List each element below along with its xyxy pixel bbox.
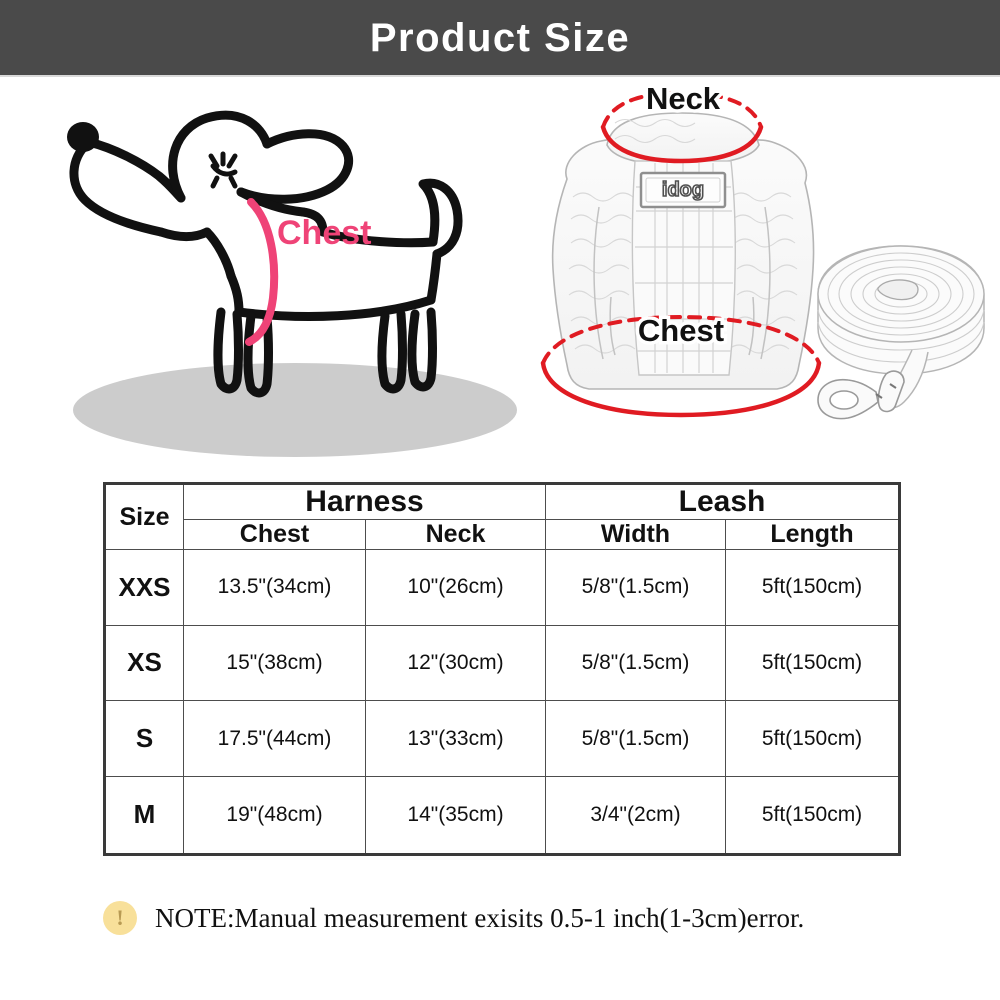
leash-coil — [818, 246, 984, 374]
cell-length: 5ft(150cm) — [726, 625, 900, 701]
header-length: Length — [726, 520, 900, 550]
table-row: XXS 13.5"(34cm) 10"(26cm) 5/8"(1.5cm) 5f… — [105, 550, 900, 626]
page-title: Product Size — [370, 18, 630, 58]
dog-chest-label: Chest — [277, 214, 371, 252]
cell-neck: 12"(30cm) — [366, 625, 546, 701]
cell-length: 5ft(150cm) — [726, 776, 900, 854]
cell-neck: 14"(35cm) — [366, 776, 546, 854]
leash-illustration — [800, 232, 995, 437]
dog-illustration: Chest — [55, 92, 535, 462]
exclamation-glyph: ! — [116, 907, 123, 929]
cell-size: S — [105, 701, 184, 777]
header-group-harness: Harness — [184, 484, 546, 520]
cell-neck: 13"(33cm) — [366, 701, 546, 777]
harness-neck-label: Neck — [646, 87, 721, 116]
header-group-leash: Leash — [546, 484, 900, 520]
harness-svg: idog Neck Chest — [515, 87, 845, 437]
cell-neck: 10"(26cm) — [366, 550, 546, 626]
leash-snap-hook — [818, 371, 904, 418]
table-row: XS 15"(38cm) 12"(30cm) 5/8"(1.5cm) 5ft(1… — [105, 625, 900, 701]
header-width: Width — [546, 520, 726, 550]
header-size: Size — [105, 484, 184, 550]
cell-length: 5ft(150cm) — [726, 550, 900, 626]
leash-svg — [800, 232, 995, 437]
cell-size: XS — [105, 625, 184, 701]
size-table: Size Harness Leash Chest Neck Width Leng… — [103, 482, 901, 856]
dog-nose — [67, 122, 99, 152]
note-row: ! NOTE:Manual measurement exisits 0.5-1 … — [103, 888, 923, 948]
brand-label-text: idog — [662, 179, 704, 201]
header-bar: Product Size — [0, 0, 1000, 75]
cell-size: M — [105, 776, 184, 854]
table-row: M 19"(48cm) 14"(35cm) 3/4"(2cm) 5ft(150c… — [105, 776, 900, 854]
dog-shadow — [73, 363, 517, 457]
cell-width: 5/8"(1.5cm) — [546, 550, 726, 626]
cell-chest: 13.5"(34cm) — [184, 550, 366, 626]
illustration-area: Chest — [0, 77, 1000, 467]
cell-size: XXS — [105, 550, 184, 626]
cell-length: 5ft(150cm) — [726, 701, 900, 777]
cell-width: 5/8"(1.5cm) — [546, 625, 726, 701]
table-header-row-subs: Chest Neck Width Length — [105, 520, 900, 550]
exclamation-icon: ! — [103, 901, 137, 935]
size-table-container: Size Harness Leash Chest Neck Width Leng… — [103, 482, 898, 856]
dog-outline-svg: Chest — [55, 92, 535, 462]
cell-width: 3/4"(2cm) — [546, 776, 726, 854]
table-header-row-groups: Size Harness Leash — [105, 484, 900, 520]
note-text: NOTE:Manual measurement exisits 0.5-1 in… — [155, 903, 804, 934]
harness-chest-label: Chest — [638, 313, 724, 348]
cell-chest: 19"(48cm) — [184, 776, 366, 854]
header-chest: Chest — [184, 520, 366, 550]
table-row: S 17.5"(44cm) 13"(33cm) 5/8"(1.5cm) 5ft(… — [105, 701, 900, 777]
brand-label-patch: idog — [641, 173, 725, 207]
harness-illustration: idog Neck Chest — [515, 87, 845, 437]
dog-eye — [211, 154, 235, 186]
cell-chest: 17.5"(44cm) — [184, 701, 366, 777]
cell-width: 5/8"(1.5cm) — [546, 701, 726, 777]
header-neck: Neck — [366, 520, 546, 550]
cell-chest: 15"(38cm) — [184, 625, 366, 701]
